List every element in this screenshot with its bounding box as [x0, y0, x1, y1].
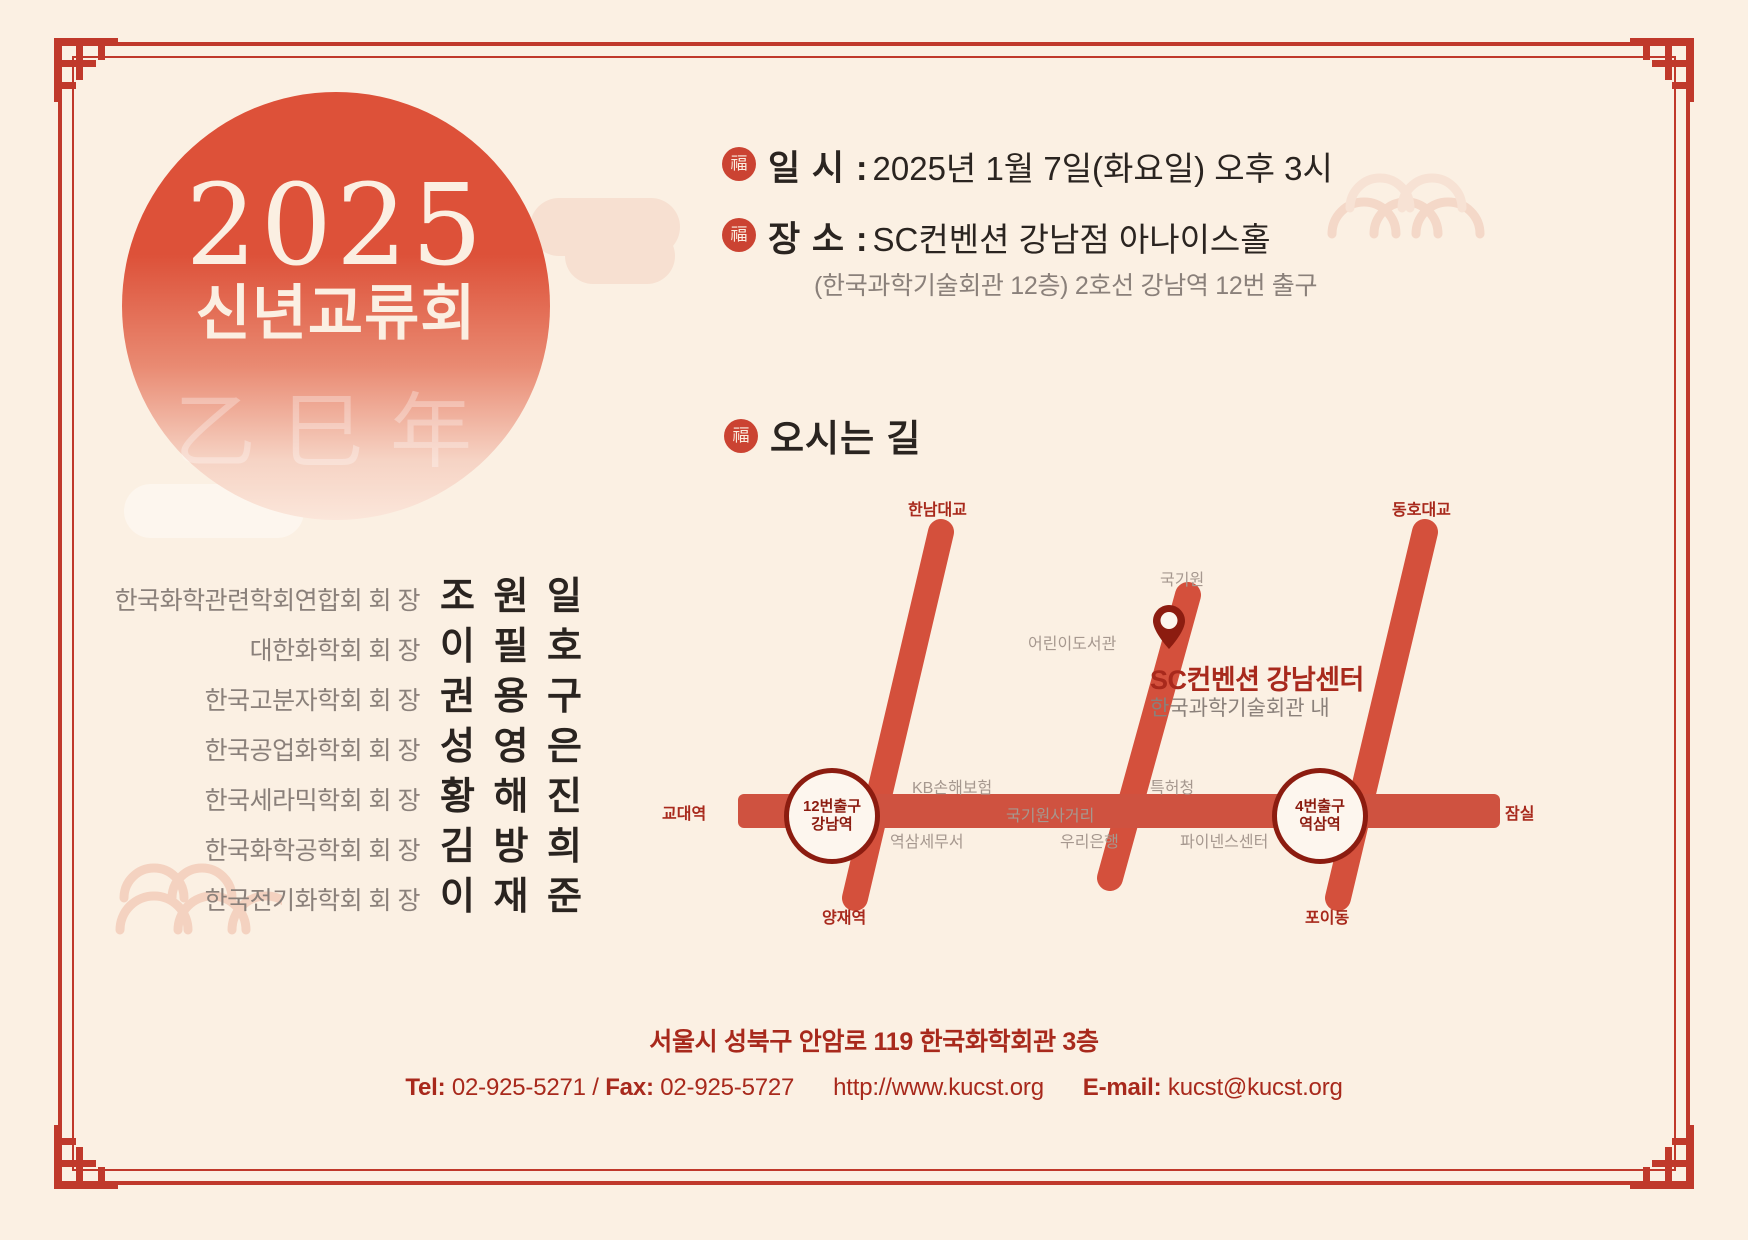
footer-address: 서울시 성북구 안암로 119 한국화학회관 3층 [0, 1022, 1748, 1058]
organization-name: 한국화학관련학회연합회 회 장 [115, 581, 420, 617]
map-endpoint-yangjae-station: 양재역 [822, 904, 866, 928]
station-name-label: 역삼역 [1299, 816, 1340, 834]
map-location-pin-icon [1153, 605, 1185, 649]
list-item: 한국고분자학회 회 장 권 용 구 [130, 665, 580, 715]
fax-value: 02-925-5727 [660, 1074, 794, 1101]
cloud-decoration-right-upper-icon [565, 228, 675, 284]
venue-label: 장 소 : [768, 211, 869, 262]
person-name: 이 필 호 [440, 615, 580, 670]
map-station-gangnam[interactable]: 12번출구 강남역 [784, 768, 880, 864]
bok-seal-icon: 福 [724, 419, 758, 453]
datetime-value: 2025년 1월 7일(화요일) 오후 3시 [873, 142, 1333, 190]
datetime-label: 일 시 : [768, 140, 869, 191]
email-value[interactable]: kucst@kucst.org [1168, 1074, 1343, 1101]
contact-separator: / [592, 1074, 598, 1101]
map-poi-patent-office: 특허청 [1150, 774, 1194, 798]
corner-ornament-bottom-right-icon [1630, 1125, 1694, 1189]
map-roads [650, 480, 1530, 950]
map-station-yeoksam[interactable]: 4번출구 역삼역 [1272, 768, 1368, 864]
map-poi-woori-bank: 우리은행 [1060, 828, 1119, 852]
map-poi-finance-center: 파이넨스센터 [1180, 828, 1268, 852]
poster-root: 乙巳年 2025 신년교류회 福 일 시 : 2025년 1월 7일(화요일) … [0, 0, 1748, 1240]
footer-contact-line: Tel: 02-925-5271 / Fax: 02-925-5727 http… [0, 1074, 1748, 1102]
map-endpoint-jamsil: 잠실 [1505, 800, 1534, 824]
station-name-label: 강남역 [811, 816, 852, 834]
bok-seal-icon: 福 [722, 218, 756, 252]
person-name: 황 해 진 [440, 765, 580, 820]
list-item: 대한화학회 회 장 이 필 호 [130, 615, 580, 665]
person-name: 김 방 희 [440, 815, 580, 870]
organization-name: 대한화학회 회 장 [250, 631, 420, 667]
tel-label: Tel: [405, 1074, 445, 1101]
person-name: 조 원 일 [440, 565, 580, 620]
organization-president-list: 한국화학관련학회연합회 회 장 조 원 일 대한화학회 회 장 이 필 호 한국… [130, 565, 580, 915]
corner-ornament-top-right-icon [1630, 38, 1694, 102]
map-poi-childrens-library: 어린이도서관 [1028, 630, 1116, 654]
hero-year: 2025 [122, 170, 550, 282]
map-poi-yeoksam-tax-office: 역삼세무서 [890, 828, 964, 852]
organization-name: 한국공업화학회 회 장 [205, 731, 420, 767]
organization-name: 한국세라믹학회 회 장 [205, 781, 420, 817]
fax-label: Fax: [605, 1074, 654, 1101]
event-info-block: 福 일 시 : 2025년 1월 7일(화요일) 오후 3시 福 장 소 : S… [722, 140, 1582, 316]
person-name: 권 용 구 [440, 665, 580, 720]
website-link[interactable]: http://www.kucst.org [833, 1074, 1044, 1101]
event-info-row-datetime: 福 일 시 : 2025년 1월 7일(화요일) 오후 3시 [722, 140, 1582, 191]
map-endpoint-gyodae-station: 교대역 [662, 800, 706, 824]
route-section-heading: 福 오시는 길 [724, 408, 921, 462]
list-item: 한국세라믹학회 회 장 황 해 진 [130, 765, 580, 815]
organization-name: 한국고분자학회 회 장 [205, 681, 420, 717]
map-poi-kukkiwon: 국기원 [1160, 566, 1204, 590]
person-name: 성 영 은 [440, 715, 580, 770]
organization-name: 한국전기화학회 회 장 [205, 881, 420, 917]
map-endpoint-dongho-bridge: 동호대교 [1392, 496, 1451, 520]
organization-name: 한국화학공학회 회 장 [205, 831, 420, 867]
list-item: 한국공업화학회 회 장 성 영 은 [130, 715, 580, 765]
list-item: 한국화학관련학회연합회 회 장 조 원 일 [130, 565, 580, 615]
venue-value: SC컨벤션 강남점 아나이스홀 [873, 213, 1271, 261]
corner-ornament-bottom-left-icon [54, 1125, 118, 1189]
route-heading-text: 오시는 길 [770, 408, 921, 462]
station-exit-label: 12번출구 [803, 798, 861, 816]
bok-seal-icon: 福 [722, 147, 756, 181]
map-endpoint-hannam-bridge: 한남대교 [908, 496, 967, 520]
hero-hanja-watermark: 乙巳年 [122, 392, 550, 474]
list-item: 한국전기화학회 회 장 이 재 준 [130, 865, 580, 915]
event-info-row-venue: 福 장 소 : SC컨벤션 강남점 아나이스홀 (한국과학기술회관 12층) 2… [722, 211, 1582, 302]
map-venue-subtitle: 한국과학기술회관 내 [1150, 692, 1330, 722]
person-name: 이 재 준 [440, 865, 580, 920]
venue-sub-detail: (한국과학기술회관 12층) 2호선 강남역 12번 출구 [814, 266, 1317, 302]
tel-value: 02-925-5271 [452, 1074, 586, 1101]
location-map: 한남대교 동호대교 양재역 포이동 교대역 잠실 국기원 어린이도서관 KB손해… [650, 480, 1530, 950]
hero-logo-circle: 乙巳年 2025 신년교류회 [122, 92, 550, 520]
list-item: 한국화학공학회 회 장 김 방 희 [130, 815, 580, 865]
map-endpoint-poi-dong: 포이동 [1305, 904, 1349, 928]
map-poi-kb-insurance: KB손해보험 [912, 774, 992, 798]
map-poi-kukkiwon-intersection: 국기원사거리 [1006, 802, 1094, 826]
email-label: E-mail: [1083, 1074, 1162, 1101]
station-exit-label: 4번출구 [1295, 798, 1345, 816]
hero-subtitle: 신년교류회 [122, 284, 550, 344]
corner-ornament-top-left-icon [54, 38, 118, 102]
